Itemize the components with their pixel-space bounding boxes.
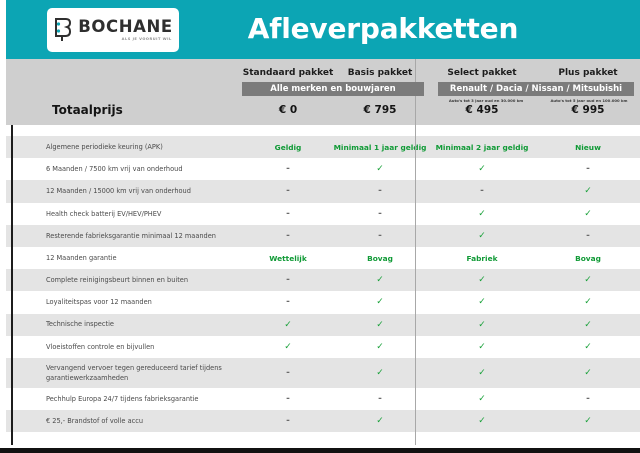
afleverpakketten-page: BOCHANE ALS JE VOORUIT WIL Afleverpakket…: [0, 0, 640, 453]
feature-cell-plus: ✓: [540, 275, 636, 285]
total-price-label: Totaalprijs: [52, 103, 123, 117]
page-bottom-strip: [0, 448, 640, 453]
feature-cell-basis: Bovag: [332, 254, 428, 263]
feature-cell-standaard: -: [240, 416, 336, 426]
package-header-basis: Basis pakket: [332, 68, 428, 78]
feature-cell-select: ✓: [430, 231, 534, 241]
table-row: Health check batterij EV/HEV/PHEV--✓✓: [6, 203, 640, 225]
brand-scope-right: Renault / Dacia / Nissan / Mitsubishi: [438, 82, 634, 96]
feature-label: Complete reinigingsbeurt binnen en buite…: [46, 275, 236, 285]
feature-cell-standaard: ✓: [240, 320, 336, 330]
feature-label: Pechhulp Europa 24/7 tijdens fabrieksgar…: [46, 394, 236, 404]
total-price-basis: € 795: [332, 104, 428, 116]
feature-cell-select: ✓: [430, 368, 534, 378]
page-header-banner: BOCHANE ALS JE VOORUIT WIL Afleverpakket…: [6, 0, 640, 59]
feature-cell-plus: ✓: [540, 297, 636, 307]
feature-cell-select: ✓: [430, 209, 534, 219]
package-header-standaard: Standaard pakket: [240, 68, 336, 78]
feature-label: 6 Maanden / 7500 km vrij van onderhoud: [46, 164, 236, 174]
table-row: Algemene periodieke keuring (APK)GeldigM…: [6, 136, 640, 158]
package-header-plus: Plus pakket: [540, 68, 636, 78]
feature-cell-basis: -: [332, 209, 428, 219]
feature-cell-plus: ✓: [540, 320, 636, 330]
page-title: Afleverpakketten: [6, 12, 640, 45]
feature-cell-plus: ✓: [540, 342, 636, 352]
feature-cell-basis: ✓: [332, 320, 428, 330]
feature-label: Vloeistoffen controle en bijvullen: [46, 342, 236, 352]
feature-label: Loyaliteitspas voor 12 maanden: [46, 297, 236, 307]
feature-cell-select: ✓: [430, 275, 534, 285]
feature-cell-basis: ✓: [332, 297, 428, 307]
feature-label: € 25,- Brandstof of volle accu: [46, 416, 236, 426]
feature-cell-plus: ✓: [540, 368, 636, 378]
table-rows-host: Algemene periodieke keuring (APK)GeldigM…: [6, 136, 640, 432]
feature-cell-basis: ✓: [332, 416, 428, 426]
feature-label: Health check batterij EV/HEV/PHEV: [46, 209, 236, 219]
feature-cell-basis: ✓: [332, 342, 428, 352]
feature-label: Algemene periodieke keuring (APK): [46, 142, 236, 152]
feature-cell-basis: Minimaal 1 jaar geldig: [332, 143, 428, 152]
feature-label: Technische inspectie: [46, 319, 236, 329]
table-row: Complete reinigingsbeurt binnen en buite…: [6, 269, 640, 291]
feature-cell-standaard: Geldig: [240, 143, 336, 152]
package-header-select: Select pakket: [430, 68, 534, 78]
feature-label: Vervangend vervoer tegen gereduceerd tar…: [46, 363, 236, 383]
table-row: Loyaliteitspas voor 12 maanden-✓✓✓: [6, 291, 640, 313]
feature-cell-plus: ✓: [540, 209, 636, 219]
feature-cell-standaard: -: [240, 209, 336, 219]
feature-cell-select: ✓: [430, 416, 534, 426]
table-row: 12 Maanden garantieWettelijkBovagFabriek…: [6, 247, 640, 269]
feature-label: 12 Maanden garantie: [46, 253, 236, 263]
feature-cell-standaard: -: [240, 164, 336, 174]
table-row: Pechhulp Europa 24/7 tijdens fabrieksgar…: [6, 388, 640, 410]
feature-cell-basis: -: [332, 231, 428, 241]
feature-cell-standaard: -: [240, 394, 336, 404]
feature-cell-plus: ✓: [540, 416, 636, 426]
table-row: 6 Maanden / 7500 km vrij van onderhoud-✓…: [6, 158, 640, 180]
feature-cell-select: ✓: [430, 342, 534, 352]
total-price-standaard: € 0: [240, 104, 336, 116]
table-top-spacer: [6, 125, 640, 136]
plus-fineprint: Auto's tot 5 jaar oud en 100.000 km: [539, 98, 639, 103]
feature-cell-select: -: [430, 186, 534, 196]
feature-cell-plus: -: [540, 164, 636, 174]
table-row: 12 Maanden / 15000 km vrij van onderhoud…: [6, 180, 640, 202]
feature-cell-standaard: -: [240, 368, 336, 378]
feature-cell-plus: -: [540, 394, 636, 404]
table-row: Vloeistoffen controle en bijvullen✓✓✓✓: [6, 336, 640, 358]
feature-cell-plus: -: [540, 231, 636, 241]
feature-cell-standaard: -: [240, 275, 336, 285]
brand-scope-left: Alle merken en bouwjaren: [242, 82, 424, 96]
feature-cell-plus: Bovag: [540, 254, 636, 263]
feature-cell-standaard: ✓: [240, 342, 336, 352]
table-row: Resterende fabrieksgarantie minimaal 12 …: [6, 225, 640, 247]
feature-cell-standaard: -: [240, 231, 336, 241]
feature-cell-select: ✓: [430, 297, 534, 307]
feature-cell-select: Minimaal 2 jaar geldig: [430, 143, 534, 152]
total-price-select: € 495: [430, 104, 534, 116]
table-row: € 25,- Brandstof of volle accu-✓✓✓: [6, 410, 640, 432]
select-fineprint: Auto's tot 3 jaar oud en 30.000 km: [436, 98, 536, 103]
total-price-plus: € 995: [540, 104, 636, 116]
feature-label: Resterende fabrieksgarantie minimaal 12 …: [46, 231, 236, 241]
feature-cell-basis: ✓: [332, 164, 428, 174]
table-row: Vervangend vervoer tegen gereduceerd tar…: [6, 358, 640, 388]
table-row: Technische inspectie✓✓✓✓: [6, 314, 640, 336]
feature-cell-select: Fabriek: [430, 254, 534, 263]
feature-cell-basis: -: [332, 186, 428, 196]
feature-cell-plus: ✓: [540, 186, 636, 196]
package-header-band: Standaard pakket Basis pakket Select pak…: [6, 59, 640, 125]
feature-cell-basis: ✓: [332, 275, 428, 285]
feature-cell-basis: -: [332, 394, 428, 404]
feature-cell-basis: ✓: [332, 368, 428, 378]
feature-cell-select: ✓: [430, 164, 534, 174]
feature-cell-select: ✓: [430, 394, 534, 404]
feature-cell-standaard: -: [240, 297, 336, 307]
feature-cell-select: ✓: [430, 320, 534, 330]
table-left-rail: [11, 125, 13, 445]
features-table: Algemene periodieke keuring (APK)GeldigM…: [6, 125, 640, 445]
feature-cell-standaard: Wettelijk: [240, 254, 336, 263]
feature-cell-plus: Nieuw: [540, 143, 636, 152]
feature-label: 12 Maanden / 15000 km vrij van onderhoud: [46, 186, 236, 196]
feature-cell-standaard: -: [240, 186, 336, 196]
body-column-divider: [415, 125, 416, 445]
